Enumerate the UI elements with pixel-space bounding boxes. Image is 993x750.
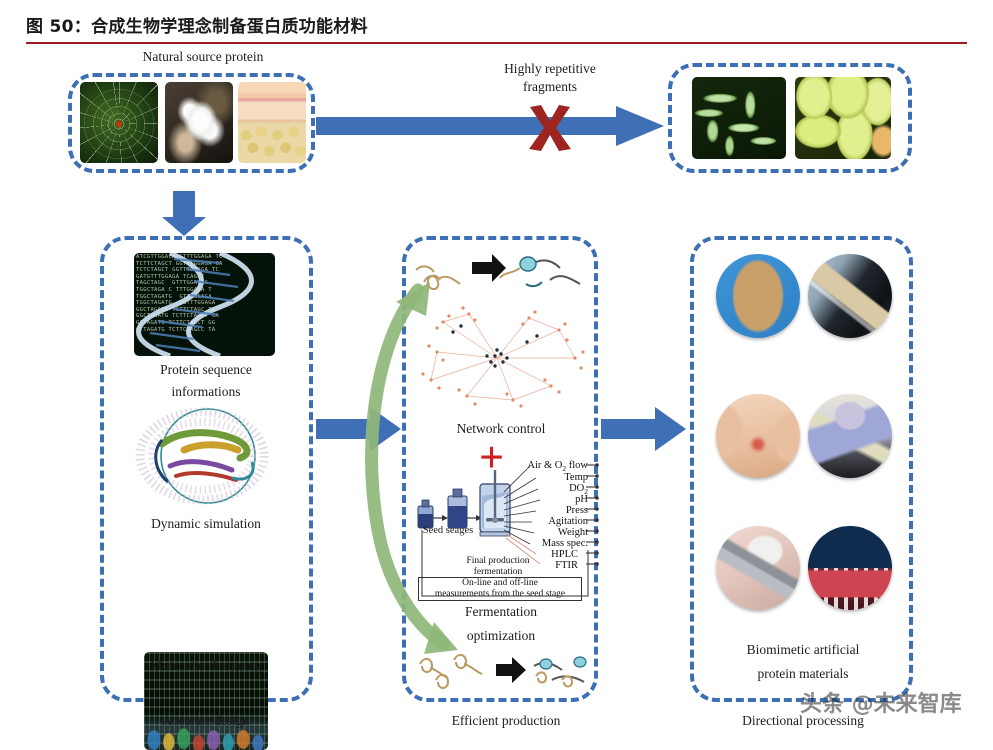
spider-web-photo: [80, 82, 158, 163]
fragments-line1: Highly repetitive: [470, 60, 630, 78]
peptide-folding-diagram: [410, 248, 592, 300]
silk-cocoon-photo: [165, 82, 233, 163]
bacteria-sem-photo: [692, 77, 786, 159]
biomimetic-line2: protein materials: [710, 662, 896, 686]
yeast-cells-photo: [795, 77, 891, 159]
param-air-o2-flow-text: Air & O2 flow: [527, 460, 588, 471]
joint-implant-photo: [716, 526, 800, 610]
dna-sequence-image: ATCGTTGGACA GTTTGGAGA TC TCTTCTAGCT GGTT…: [134, 253, 275, 356]
header-rule: [26, 42, 967, 44]
param-temp: Temp: [500, 472, 588, 483]
arrow-source-to-host: [316, 104, 666, 148]
accurate-design-caption: Accurate design: [113, 712, 299, 730]
param-agitation: Agitation: [500, 516, 588, 527]
param-ph: pH: [500, 494, 588, 505]
protein-sequence-label: Protein sequence informations: [123, 359, 289, 403]
feedback-loop-line: [416, 530, 596, 602]
efficient-production-caption: Efficient production: [413, 712, 599, 730]
arrow-production-to-processing: [601, 406, 687, 452]
red-cross-icon: [524, 105, 576, 151]
fragments-line2: fragments: [470, 78, 630, 96]
biomimetic-line1: Biomimetic artificial: [710, 638, 896, 662]
arrow-source-to-design: [160, 191, 208, 237]
page-title: 图 50：合成生物学理念制备蛋白质功能材料: [26, 12, 967, 42]
protective-suit-photo: [808, 394, 892, 478]
param-press: Press: [500, 505, 588, 516]
watermark: 头条 @未来智库: [800, 686, 962, 718]
bone-scaffold-photo: [716, 254, 800, 338]
dental-material-photo: [808, 526, 892, 610]
skin-wound-photo: [716, 394, 800, 478]
fiber-bundle-photo: [808, 254, 892, 338]
protein-structure-image: [132, 400, 280, 512]
protein-sequence-line1: Protein sequence: [123, 359, 289, 381]
watermark-text: 头条 @未来智库: [800, 692, 962, 717]
fermentation-optimization-label: Fermentation optimization: [418, 600, 584, 648]
natural-source-label: Natural source protein: [78, 48, 328, 66]
dynamic-simulation-label: Dynamic simulation: [123, 515, 289, 533]
product-output-diagram: [412, 650, 590, 694]
figure-header: 图 50：合成生物学理念制备蛋白质功能材料: [26, 12, 967, 44]
fermentation-line2: optimization: [418, 624, 584, 648]
network-graph-image: [409, 296, 593, 416]
biomimetic-materials-label: Biomimetic artificial protein materials: [710, 638, 896, 686]
repetitive-fragments-label: Highly repetitive fragments: [470, 60, 630, 96]
skin-tissue-photo: [238, 82, 306, 163]
molecular-designing-label: Molecular designing: [113, 657, 299, 675]
fermentation-line1: Fermentation: [418, 600, 584, 624]
